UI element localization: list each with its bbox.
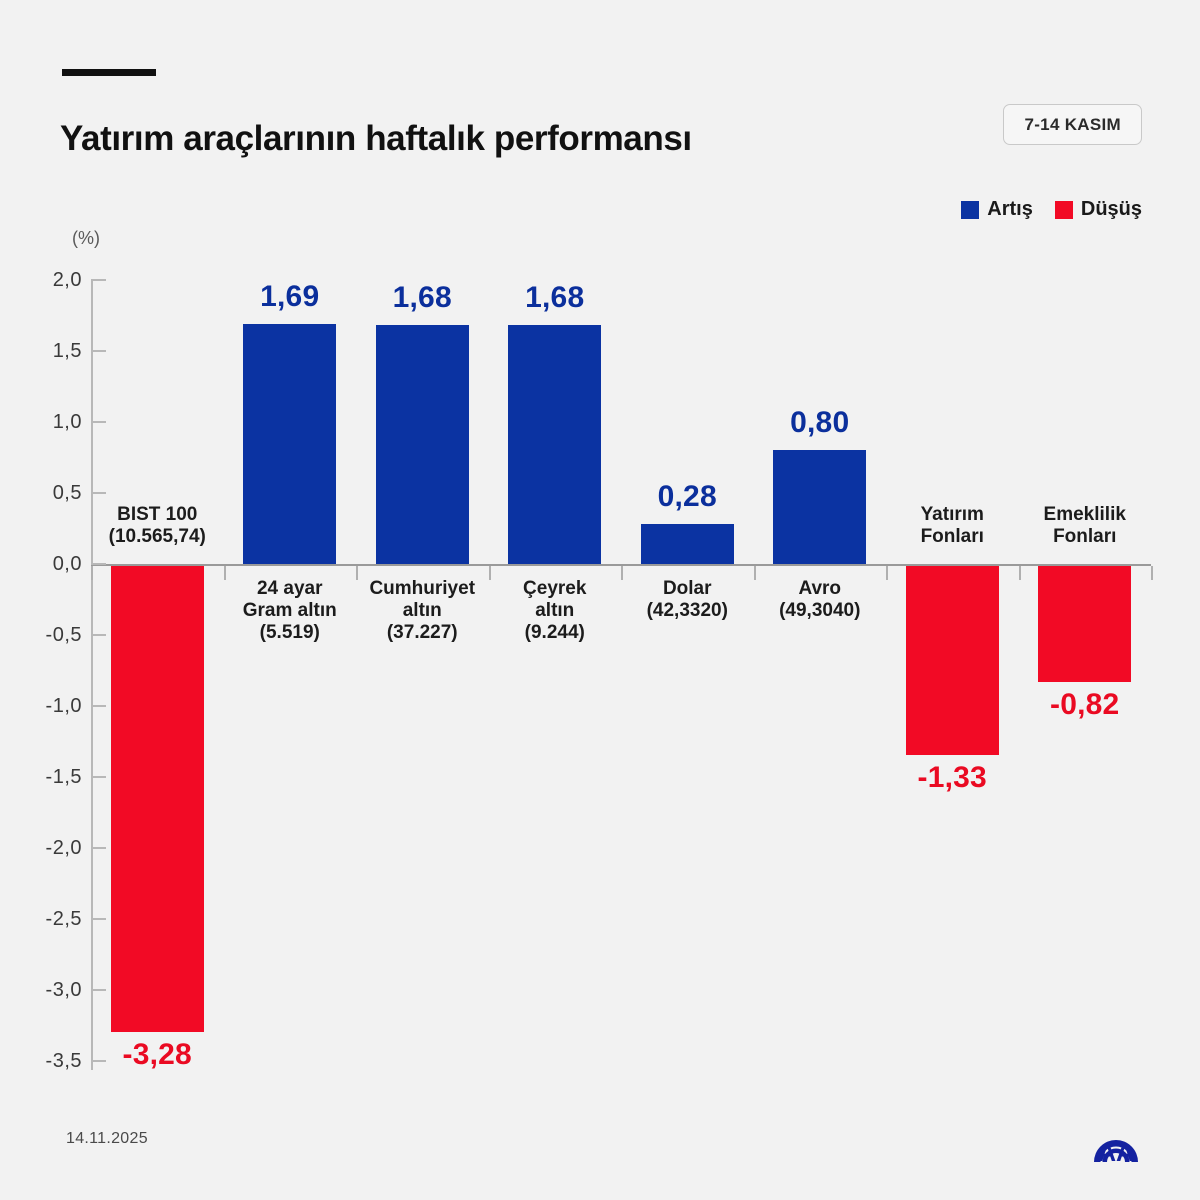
y-axis-tick <box>91 563 106 565</box>
footer-date: 14.11.2025 <box>66 1130 148 1148</box>
bar-value-label: 0,28 <box>597 480 777 514</box>
category-sub-value: (49,3040) <box>730 600 910 622</box>
category-name: Dolar <box>663 578 712 599</box>
x-axis-tick <box>1151 566 1153 580</box>
bar[interactable] <box>906 566 999 755</box>
y-axis-tick <box>91 847 106 849</box>
category-name: BIST 100 <box>117 504 197 525</box>
category-name: 24 ayar <box>257 578 323 599</box>
bar-value-label: 1,68 <box>465 281 645 315</box>
y-axis-tick-label: -2,0 <box>12 837 82 860</box>
bar-value-label: 0,80 <box>730 406 910 440</box>
y-axis-line <box>91 280 93 1070</box>
x-axis-category-label: EmeklilikFonları <box>995 504 1175 548</box>
bar-value-label: -0,82 <box>995 688 1175 722</box>
category-name-line2: altın <box>403 600 442 621</box>
bar[interactable] <box>508 325 601 564</box>
category-name-line2: Gram altın <box>243 600 337 621</box>
y-axis-tick <box>91 492 106 494</box>
y-axis-tick <box>91 421 106 423</box>
x-axis-category-label: Avro(49,3040) <box>730 578 910 622</box>
category-name: Yatırım <box>921 504 984 525</box>
y-axis-tick-label: -1,5 <box>12 766 82 789</box>
y-axis-tick <box>91 634 106 636</box>
y-axis-tick <box>91 776 106 778</box>
bar[interactable] <box>641 524 734 564</box>
aa-logo: AA <box>1088 1114 1144 1170</box>
category-name-line2: Fonları <box>1053 526 1116 547</box>
y-axis-tick-label: -3,0 <box>12 979 82 1002</box>
x-axis-tick <box>1019 566 1021 580</box>
bar-value-label: -1,33 <box>862 761 1042 795</box>
svg-text:AA: AA <box>1098 1139 1134 1167</box>
y-axis-tick <box>91 989 106 991</box>
y-axis-tick-label: 0,0 <box>12 553 82 576</box>
category-sub-value: (10.565,74) <box>67 526 247 548</box>
bar[interactable] <box>243 324 336 564</box>
bar-value-label: -3,28 <box>67 1038 247 1072</box>
y-axis-unit-label: (%) <box>72 228 100 249</box>
bar[interactable] <box>1038 566 1131 682</box>
y-axis-tick-label: 1,5 <box>12 340 82 363</box>
category-sub-value: (9.244) <box>465 622 645 644</box>
category-name: Avro <box>798 578 841 599</box>
bar[interactable] <box>111 566 204 1032</box>
y-axis-tick <box>91 279 106 281</box>
y-axis-tick <box>91 918 106 920</box>
category-name: Emeklilik <box>1044 504 1126 525</box>
y-axis-tick-label: -2,5 <box>12 908 82 931</box>
y-axis-tick-label: 0,5 <box>12 482 82 505</box>
bar[interactable] <box>773 450 866 564</box>
y-axis-tick-label: 1,0 <box>12 411 82 434</box>
category-name: Çeyrek <box>523 578 586 599</box>
y-axis-tick <box>91 350 106 352</box>
bar[interactable] <box>376 325 469 564</box>
category-name-line2: Fonları <box>921 526 984 547</box>
category-name-line2: altın <box>535 600 574 621</box>
x-axis-category-label: BIST 100(10.565,74) <box>67 504 247 548</box>
bar-chart: (%) 2,01,51,00,50,0-0,5-1,0-1,5-2,0-2,5-… <box>0 0 1200 1200</box>
y-axis-tick-label: -1,0 <box>12 695 82 718</box>
y-axis-tick <box>91 705 106 707</box>
x-axis-tick <box>91 566 93 580</box>
y-axis-tick-label: 2,0 <box>12 269 82 292</box>
y-axis-tick-label: -0,5 <box>12 624 82 647</box>
category-name: Cumhuriyet <box>369 578 475 599</box>
